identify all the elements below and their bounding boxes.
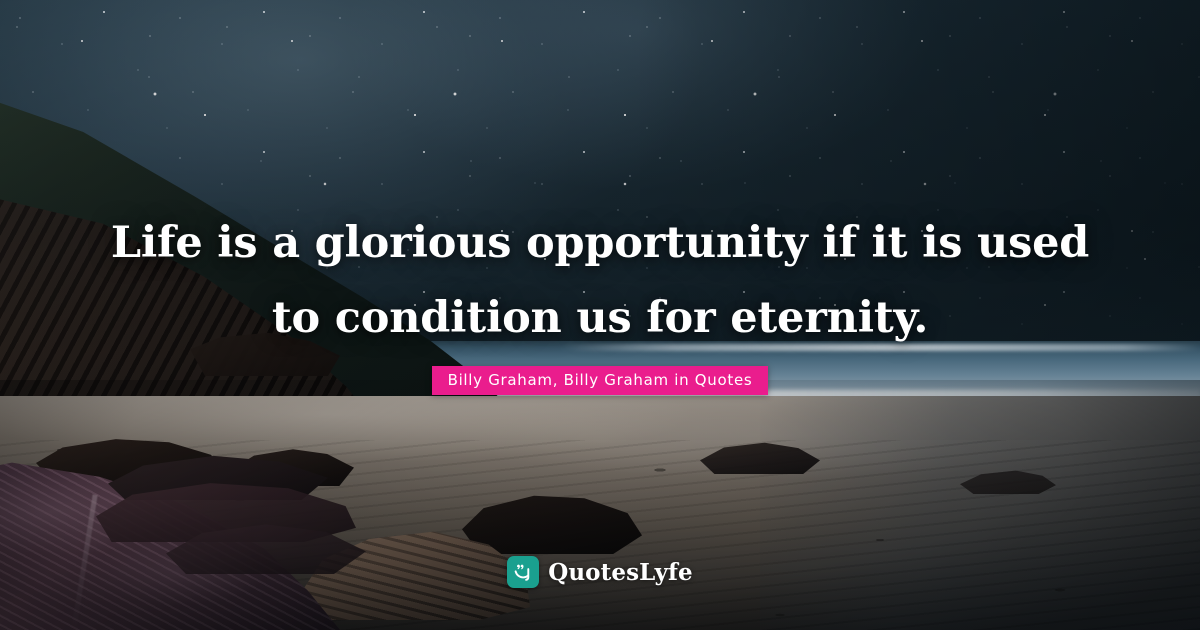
attribution-container: Billy Graham, Billy Graham in Quotes	[0, 366, 1200, 395]
logo-wordmark: QuotesLyfe	[548, 559, 693, 586]
quote-card: Life is a glorious opportunity if it is …	[0, 0, 1200, 630]
card-content: Life is a glorious opportunity if it is …	[0, 0, 1200, 630]
quoteslyfe-logo[interactable]: QuotesLyfe	[0, 556, 1200, 588]
attribution-badge[interactable]: Billy Graham, Billy Graham in Quotes	[432, 366, 769, 395]
quote-text: Life is a glorious opportunity if it is …	[100, 206, 1100, 356]
quote-smiley-icon	[507, 556, 539, 588]
